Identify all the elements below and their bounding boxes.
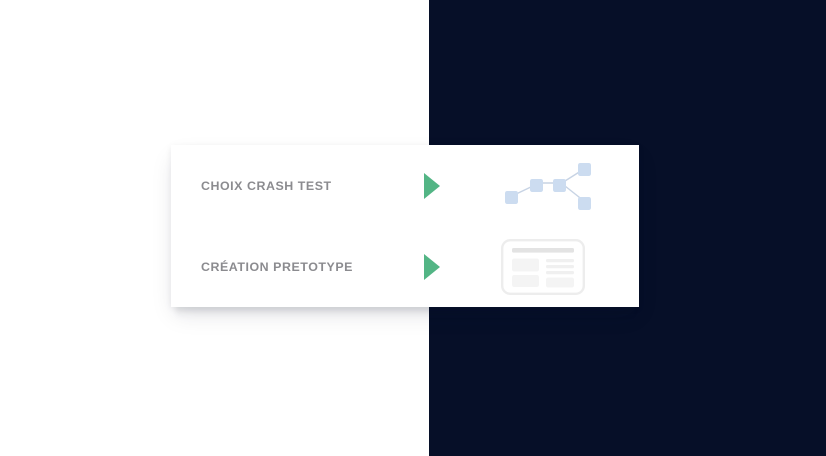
network-graph-icon <box>501 161 597 211</box>
menu-card: CHOIX CRASH TEST <box>171 145 639 307</box>
screen-root: CHOIX CRASH TEST <box>0 0 826 456</box>
play-arrow-icon[interactable] <box>424 254 440 280</box>
menu-row-label-choix-crash-test: CHOIX CRASH TEST <box>201 179 332 193</box>
wireframe-layout-icon <box>501 239 585 295</box>
menu-row-choix-crash-test[interactable]: CHOIX CRASH TEST <box>171 145 639 226</box>
menu-row-label-creation-pretotype: CRÉATION PRETOTYPE <box>201 260 353 274</box>
menu-row-creation-pretotype[interactable]: CRÉATION PRETOTYPE <box>171 226 639 307</box>
play-arrow-icon[interactable] <box>424 173 440 199</box>
